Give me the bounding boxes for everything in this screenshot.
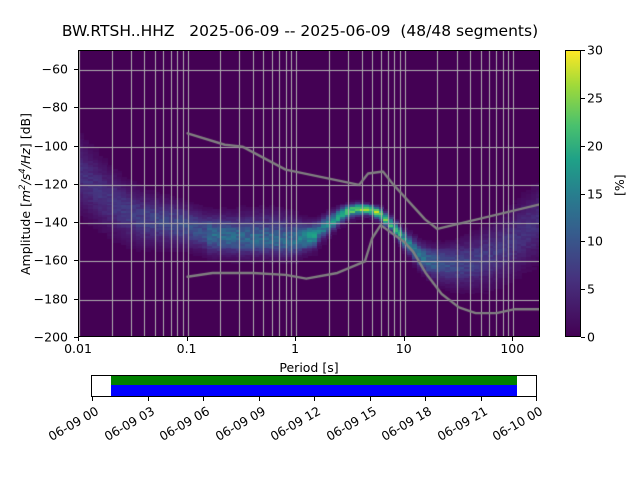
x-tick-label: 0.01 (64, 341, 92, 356)
x-tick-mark (187, 337, 188, 341)
y-tick-mark (74, 69, 78, 70)
ppsd-axes[interactable] (78, 50, 540, 337)
colorbar-tick-label: 15 (587, 186, 603, 201)
y-tick-mark (74, 107, 78, 108)
figure-title: BW.RTSH..HHZ 2025-06-09 -- 2025-06-09 (4… (0, 22, 600, 40)
colorbar-gradient (565, 50, 581, 337)
x-tick-mark (295, 337, 296, 341)
coverage-time-label: 06-09 15 (313, 404, 379, 450)
coverage-axes[interactable] (91, 375, 537, 397)
ppsd-figure: BW.RTSH..HHZ 2025-06-09 -- 2025-06-09 (4… (0, 0, 640, 480)
coverage-time-label: 06-09 09 (202, 404, 268, 450)
colorbar-tick-mark (581, 289, 585, 290)
coverage-tick-mark (536, 397, 537, 401)
coverage-time-label: 06-10 00 (479, 404, 545, 450)
y-tick-mark (74, 184, 78, 185)
coverage-tick-mark (425, 397, 426, 401)
x-tick-mark (512, 337, 513, 341)
coverage-tick-mark (370, 397, 371, 401)
colorbar-tick-mark (581, 194, 585, 195)
coverage-time-label: 06-09 03 (91, 404, 157, 450)
colorbar-tick-mark (581, 337, 585, 338)
colorbar-tick-mark (581, 241, 585, 242)
coverage-tick-mark (203, 397, 204, 401)
coverage-span-bar (111, 385, 518, 396)
coverage-time-label: 06-09 12 (257, 404, 323, 450)
colorbar-tick-label: 30 (587, 43, 603, 58)
coverage-time-label: 06-09 18 (368, 404, 434, 450)
coverage-time-label: 06-09 06 (146, 404, 212, 450)
y-tick-mark (74, 260, 78, 261)
colorbar-tick-mark (581, 98, 585, 99)
x-tick-label: 10 (396, 341, 412, 356)
colorbar-tick-label: 20 (587, 138, 603, 153)
colorbar-label: [%] (612, 174, 627, 196)
coverage-tick-mark (92, 397, 93, 401)
colorbar-tick-label: 25 (587, 90, 603, 105)
colorbar-tick-label: 10 (587, 234, 603, 249)
x-tick-mark (404, 337, 405, 341)
noise-model-curves (79, 51, 540, 337)
colorbar[interactable]: 051015202530 (565, 50, 581, 337)
colorbar-tick-label: 0 (587, 330, 595, 345)
coverage-tick-mark (481, 397, 482, 401)
colorbar-tick-label: 5 (587, 282, 595, 297)
y-tick-mark (74, 222, 78, 223)
x-tick-label: 0.1 (177, 341, 197, 356)
x-tick-label: 1 (291, 341, 299, 356)
coverage-time-label: 06-09 00 (35, 404, 101, 450)
y-axis-label: Amplitude [m2/s4/Hz] [dB] (18, 44, 33, 344)
colorbar-tick-mark (581, 50, 585, 51)
coverage-tick-mark (259, 397, 260, 401)
colorbar-tick-mark (581, 146, 585, 147)
y-tick-mark (74, 146, 78, 147)
x-tick-label: 100 (500, 341, 524, 356)
coverage-time-label: 06-09 21 (424, 404, 490, 450)
x-tick-mark (78, 337, 79, 341)
coverage-present-bar (111, 376, 518, 385)
coverage-tick-mark (148, 397, 149, 401)
y-tick-mark (74, 299, 78, 300)
x-axis-label: Period [s] (78, 360, 540, 375)
coverage-tick-mark (314, 397, 315, 401)
